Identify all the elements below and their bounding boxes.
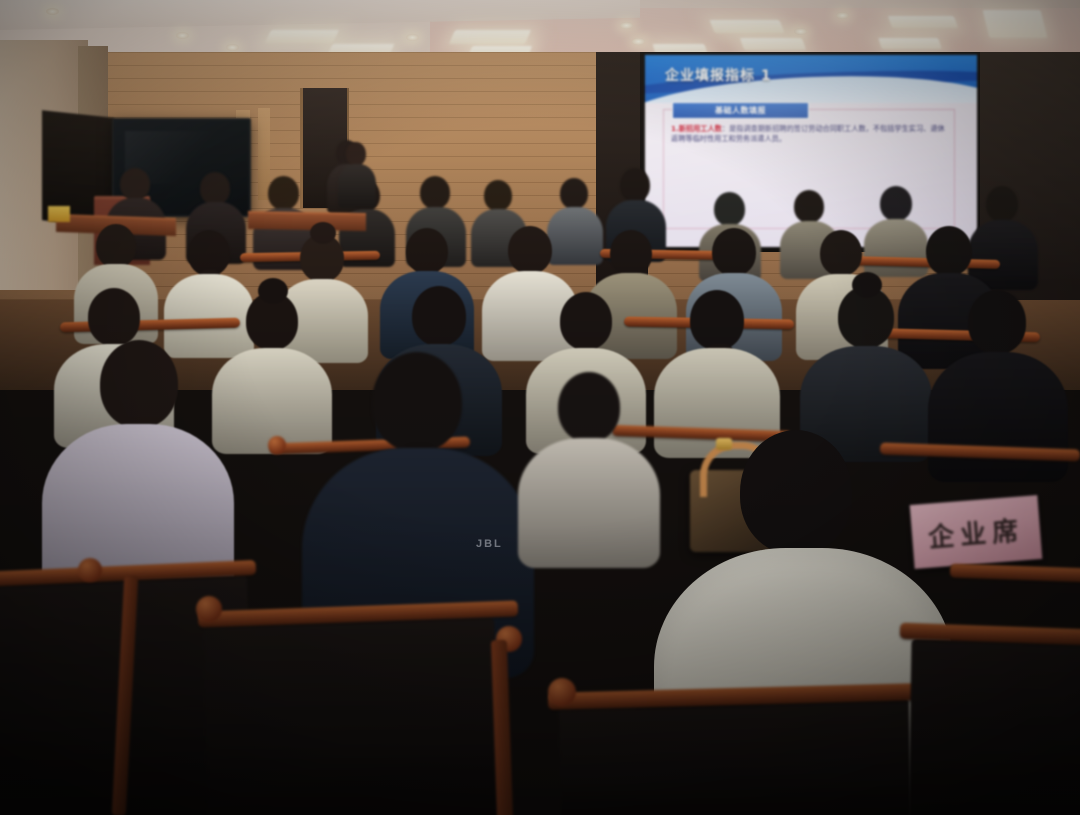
person-head [926,226,972,276]
auditorium-seat[interactable] [204,617,497,815]
auditorium-seat[interactable] [908,638,1080,815]
person-head [420,176,450,209]
person-head [880,186,912,221]
person-head [712,228,756,276]
person-head [120,168,150,200]
ceiling-downlight [176,32,189,39]
ceiling-downlight [632,38,645,45]
presenter-head [346,142,366,166]
person-head [372,352,462,452]
slide-section-bar: 基础人数填报 [672,102,809,119]
person-torso [928,352,1068,482]
person-hair-bun [852,272,882,298]
person-head [200,172,230,205]
person-head [560,178,588,209]
person-head [794,190,824,223]
person-head [620,168,650,202]
slide-body-text: 1.新招用工人数：是指调查期新招聘的签订劳动合同职工人数，不包括学生实习、退休返… [671,124,949,145]
chair-armrest-knob [268,436,286,454]
slide-title: 企业填报指标 1 [665,65,772,85]
ceiling-panel-light [449,30,531,44]
ceiling-downlight [46,8,59,15]
chair-backrest-rail [950,564,1080,583]
ceiling-panel-light [983,10,1048,38]
ceiling-downlight [406,34,419,41]
ceiling-downlight [836,12,849,19]
presenter-torso [338,164,376,208]
desk-row [248,211,366,231]
ceiling-panel-light [265,30,339,43]
person-head [560,292,612,350]
person-head [968,290,1026,354]
person-head [714,192,745,226]
handbag-clasp [716,438,732,450]
person-torso [164,274,254,358]
person-head [268,176,299,210]
ceiling-downlight [620,22,633,29]
desk-item [48,206,70,222]
placard-label: 企业席 [927,510,1026,554]
person-head [88,288,140,346]
person-hair-bun [310,222,336,244]
person-head [412,286,466,346]
slide-body-highlight: 新招用工人数 [679,124,722,133]
person-head [96,224,136,268]
person-head [690,290,744,350]
person-head [508,226,552,274]
chair-armrest-knob [548,678,576,706]
auditorium-seat[interactable] [559,697,911,815]
ceiling-downlight [226,44,239,51]
jacket-brand-logo: JBL [476,538,503,550]
table-placard: 企业席 [910,495,1043,569]
ceiling-panel-light [740,38,806,50]
chair-armrest-knob [196,596,222,622]
person-head [484,180,512,211]
ceiling-downlight [794,28,807,35]
person-torso [864,219,928,277]
slide-body-number: 1. [671,124,679,133]
chair-armrest-knob [78,558,102,582]
person-torso [547,207,603,265]
person-head [610,230,652,276]
slide-body-colon: ： [722,124,729,133]
person-head [740,430,852,554]
ceiling-panel-light [878,38,942,49]
person-hair-bun [258,278,288,304]
slide-section-label: 基础人数填报 [715,105,766,116]
person-head [100,340,178,428]
person-torso [518,438,660,568]
person-head [558,372,620,442]
person-head [986,186,1018,222]
person-head [406,228,448,274]
ceiling-panel-light [709,20,784,33]
ceiling-panel-light [888,16,958,28]
person-head [820,230,862,276]
conference-hall-photo: 企业填报指标 1 基础人数填报 1.新招用工人数：是指调查期新招聘的签订劳动合同… [0,0,1080,815]
